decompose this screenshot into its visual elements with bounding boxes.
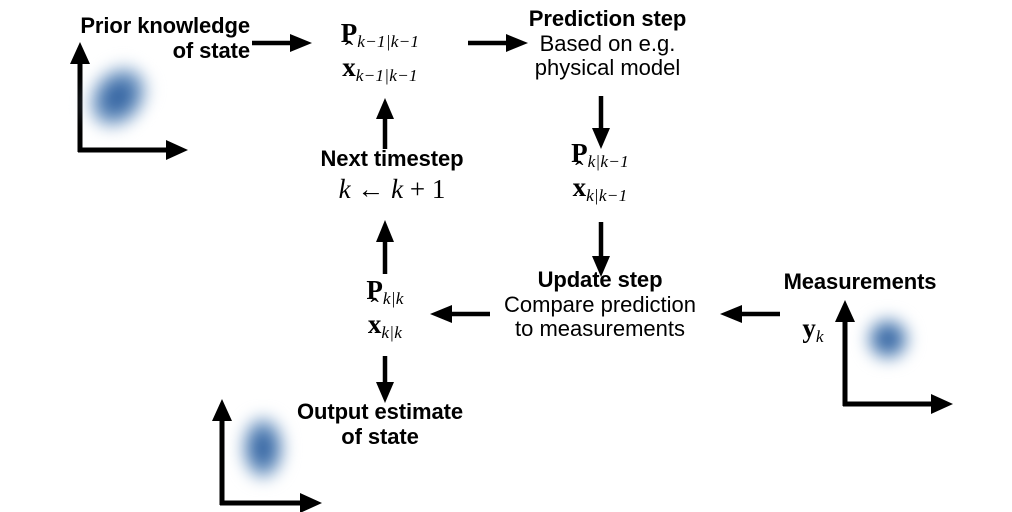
measurements-label: Measurements xyxy=(770,270,950,295)
next-timestep-plus: + xyxy=(410,174,425,204)
output-estimate-plot xyxy=(212,395,337,512)
measurement-y-subscript: k xyxy=(816,327,824,346)
arrow-update-to-state-post xyxy=(428,303,490,325)
state-prev-x-hat: ˆ xyxy=(345,40,353,65)
state-pred-block: Pk|k−1 ˆxk|k−1 xyxy=(525,138,675,206)
prediction-step-title: Prediction step xyxy=(500,7,715,32)
arrow-state-post-to-output xyxy=(374,356,396,404)
update-step-line2: Compare prediction xyxy=(490,293,710,318)
state-pred-P-subscript: k|k−1 xyxy=(588,152,629,171)
next-timestep-assign-arrow: ← xyxy=(357,174,384,204)
measurements-plot xyxy=(835,296,960,412)
measurement-y-symbol: y xyxy=(802,313,816,343)
next-timestep-formula: k ← k + 1 xyxy=(292,174,492,206)
state-post-P-subscript: k|k xyxy=(383,289,404,308)
arrow-measurements-to-update xyxy=(718,303,780,325)
output-estimate-gaussian-blob xyxy=(242,417,284,479)
arrow-state-post-to-next-timestep xyxy=(374,218,396,274)
measurements-title: Measurements xyxy=(784,269,937,294)
prior-knowledge-line1: Prior knowledge xyxy=(50,14,250,39)
next-timestep-k2: k xyxy=(391,174,403,204)
state-pred-x-hat: ˆ xyxy=(575,160,583,185)
prediction-step-line3: physical model xyxy=(500,56,715,81)
prior-knowledge-plot xyxy=(70,40,190,155)
measurements-gaussian-blob xyxy=(867,318,909,360)
update-step-line3: to measurements xyxy=(490,317,710,342)
state-pred-x-subscript: k|k−1 xyxy=(586,186,627,205)
kalman-filter-diagram: Prior knowledge of state Pk−1|k−1 ˆxk−1|… xyxy=(0,0,1012,512)
state-prev-covariance: Pk−1|k−1 xyxy=(300,18,460,52)
state-pred-covariance: Pk|k−1 xyxy=(525,138,675,172)
next-timestep-block: Next timestep k ← k + 1 xyxy=(292,147,492,205)
state-post-covariance: Pk|k xyxy=(325,275,445,309)
state-prev-mean: ˆxk−1|k−1 xyxy=(300,52,460,86)
next-timestep-title: Next timestep xyxy=(292,147,492,172)
next-timestep-one: 1 xyxy=(432,174,446,204)
update-step-title: Update step xyxy=(490,268,710,293)
state-post-x-subscript: k|k xyxy=(381,323,402,342)
update-step-block: Update step Compare prediction to measur… xyxy=(490,268,710,342)
state-post-mean: ˆxk|k xyxy=(325,309,445,343)
prediction-step-line2: Based on e.g. xyxy=(500,32,715,57)
next-timestep-k1: k xyxy=(339,174,351,204)
state-pred-mean: ˆxk|k−1 xyxy=(525,172,675,206)
state-post-x-hat: ˆ xyxy=(371,297,379,322)
prediction-step-block: Prediction step Based on e.g. physical m… xyxy=(500,7,715,81)
state-post-block: Pk|k ˆxk|k xyxy=(325,275,445,343)
state-prev-x-subscript: k−1|k−1 xyxy=(356,66,418,85)
state-prev-block: Pk−1|k−1 ˆxk−1|k−1 xyxy=(300,18,460,86)
state-prev-P-subscript: k−1|k−1 xyxy=(357,32,419,51)
arrow-next-timestep-to-state-prev xyxy=(374,97,396,149)
